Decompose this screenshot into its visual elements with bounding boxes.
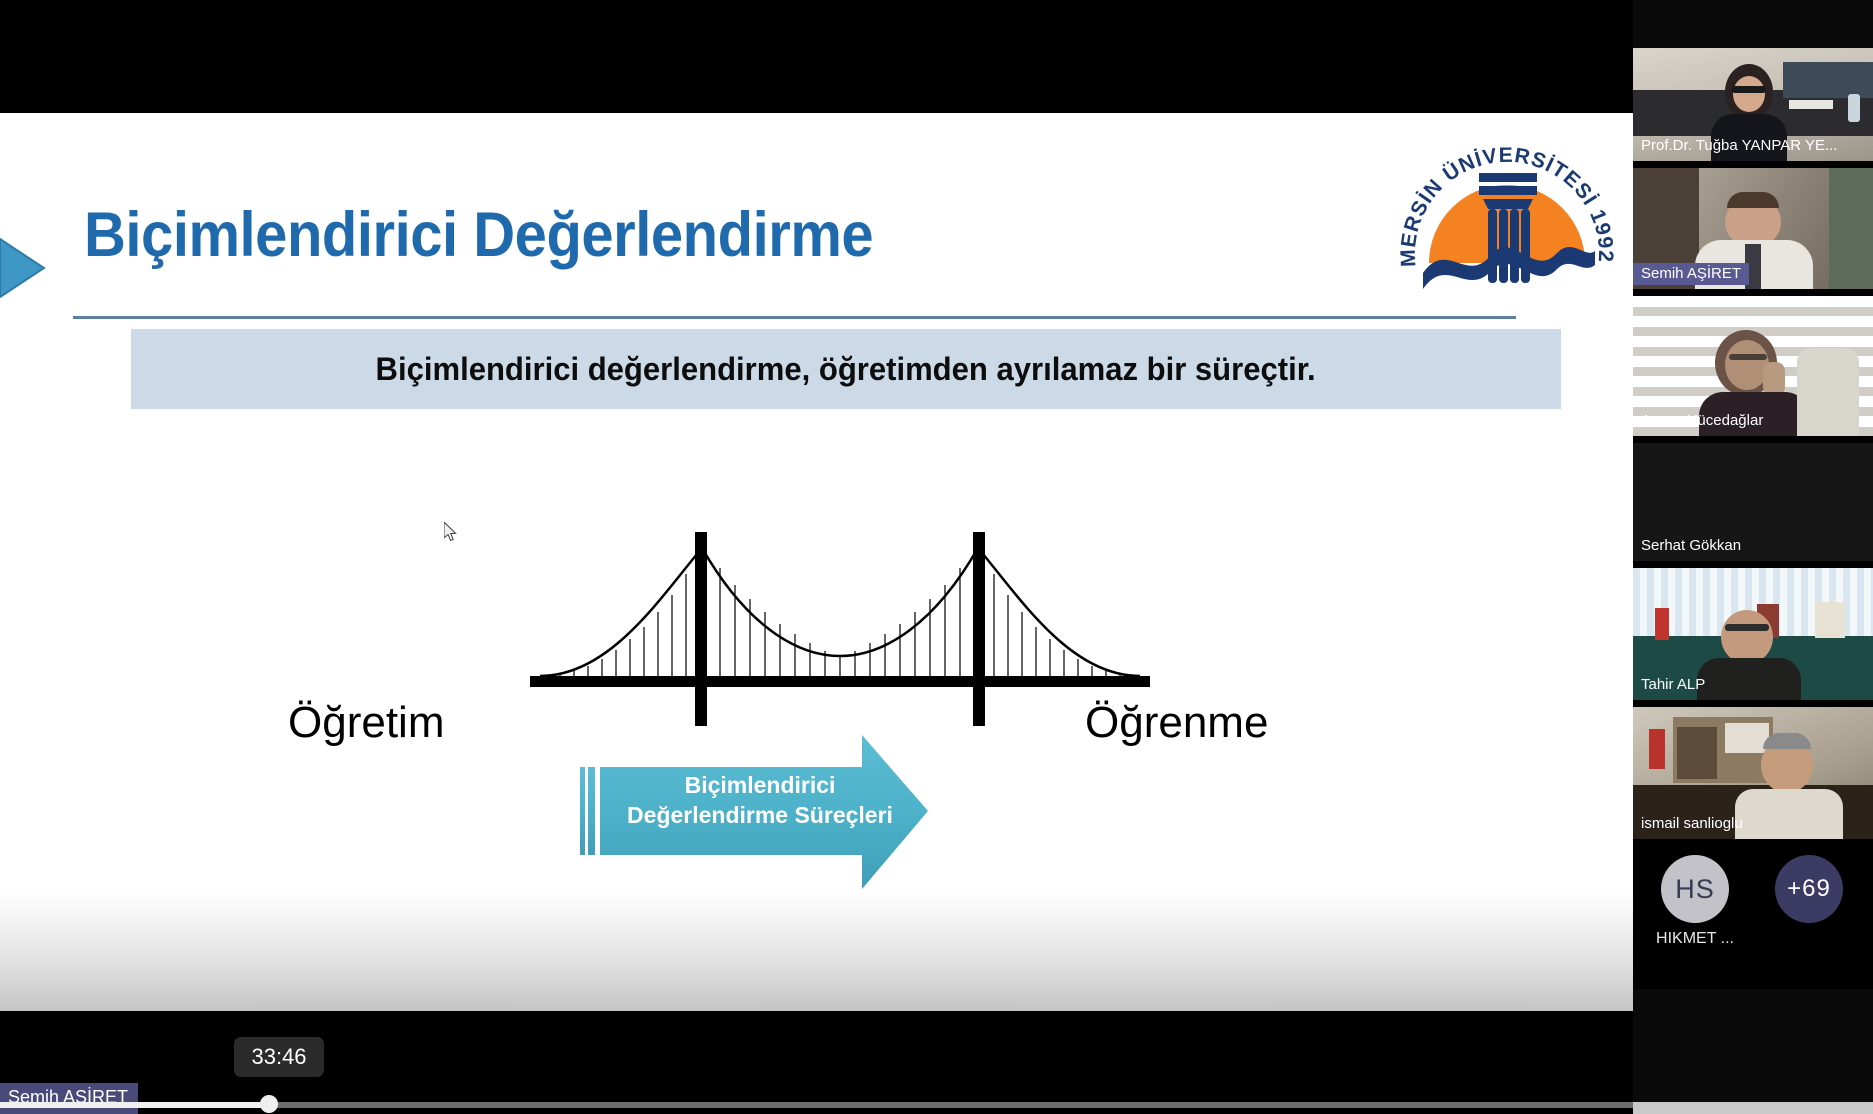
avatar-row: HS HIKMET ... +69 bbox=[1633, 839, 1873, 989]
tile-divider bbox=[1633, 161, 1873, 168]
tile-divider bbox=[1633, 436, 1873, 443]
participant-name: Tahir ALP bbox=[1633, 674, 1713, 696]
shared-screen-stage[interactable]: Biçimlendirici Değerlendirme Biçimlendir… bbox=[0, 0, 1633, 1114]
participant-name: Prof.Dr. Tuğba YANPAR YE... bbox=[1633, 135, 1845, 157]
active-speaker-chip: Semih AŞİRET bbox=[0, 1083, 138, 1114]
title-divider bbox=[73, 316, 1516, 319]
slide-bottom-fade bbox=[0, 891, 1633, 1011]
chevron-right-icon bbox=[0, 237, 46, 299]
participant-tile[interactable]: Asena Yücedağlar bbox=[1633, 296, 1873, 436]
participant-tile[interactable]: Tahir ALP bbox=[1633, 568, 1873, 700]
meeting-recording-player: Biçimlendirici Değerlendirme Biçimlendir… bbox=[0, 0, 1873, 1114]
suspension-bridge-icon bbox=[530, 528, 1150, 728]
bridge-label-right: Öğrenme bbox=[1085, 698, 1268, 748]
overflow-participants-badge[interactable]: +69 bbox=[1759, 855, 1859, 930]
participant-tile[interactable]: Serhat Gökkan bbox=[1633, 443, 1873, 561]
participant-tile[interactable]: Prof.Dr. Tuğba YANPAR YE... bbox=[1633, 48, 1873, 161]
tile-divider bbox=[1633, 700, 1873, 707]
participant-filmstrip[interactable]: Prof.Dr. Tuğba YANPAR YE... Semih AŞİRET bbox=[1633, 0, 1873, 1114]
mersin-universitesi-logo: MERSİN ÜNİVERSİTESİ 1992 bbox=[1387, 113, 1627, 309]
bridge-label-left: Öğretim bbox=[288, 698, 444, 748]
participant-name: Semih AŞİRET bbox=[1633, 263, 1749, 285]
overflow-count: +69 bbox=[1775, 855, 1843, 923]
participant-name: Serhat Gökkan bbox=[1633, 535, 1749, 557]
playback-progress-fill bbox=[0, 1102, 268, 1108]
subtitle-banner-text: Biçimlendirici değerlendirme, öğretimden… bbox=[376, 351, 1316, 388]
filmstrip-footer-bar bbox=[1633, 1102, 1873, 1114]
subtitle-banner: Biçimlendirici değerlendirme, öğretimden… bbox=[131, 329, 1561, 409]
playback-scrubber-handle[interactable] bbox=[260, 1095, 278, 1113]
playback-scrubber[interactable] bbox=[0, 1102, 1633, 1108]
avatar-initials: HS bbox=[1661, 855, 1729, 923]
slide-title: Biçimlendirici Değerlendirme bbox=[84, 199, 873, 271]
participant-name: ismail sanlioglu bbox=[1633, 813, 1751, 835]
participant-tile[interactable]: Semih AŞİRET bbox=[1633, 168, 1873, 289]
process-arrow-shape bbox=[580, 725, 930, 900]
participant-name: Asena Yücedağlar bbox=[1633, 410, 1771, 432]
tile-divider bbox=[1633, 289, 1873, 296]
avatar-label: HIKMET ... bbox=[1645, 930, 1745, 948]
tile-divider bbox=[1633, 561, 1873, 568]
playback-time-tooltip: 33:46 bbox=[234, 1037, 324, 1077]
presentation-slide: Biçimlendirici Değerlendirme Biçimlendir… bbox=[0, 113, 1633, 1011]
participant-avatar[interactable]: HS HIKMET ... bbox=[1645, 855, 1745, 948]
participant-tile[interactable]: ismail sanlioglu bbox=[1633, 707, 1873, 839]
